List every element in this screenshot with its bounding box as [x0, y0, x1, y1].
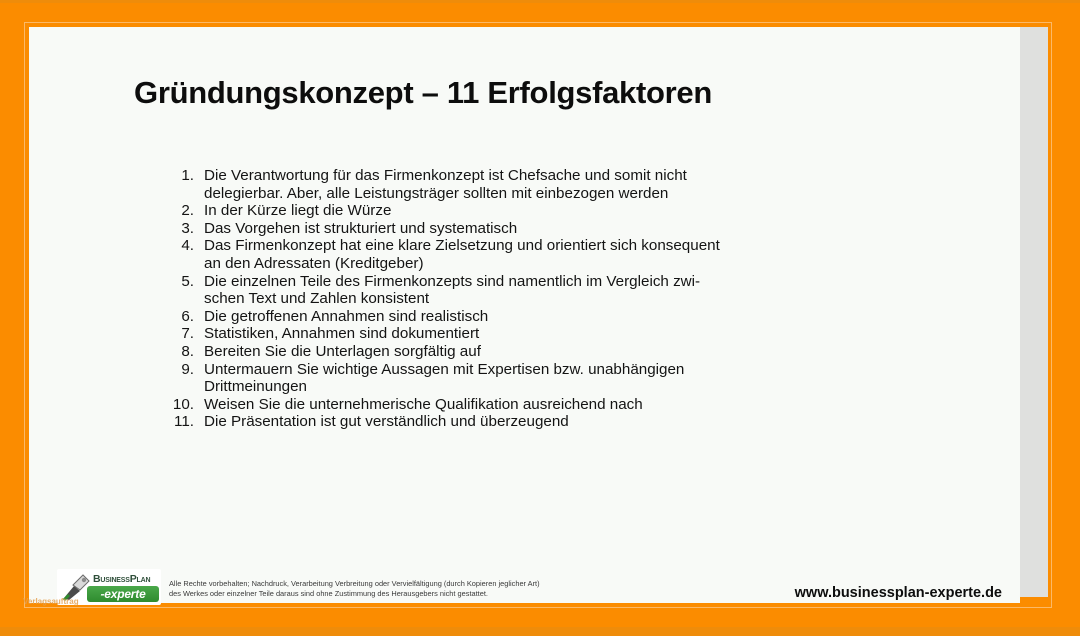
list-item-line-1: Untermauern Sie wichtige Aussagen mit Ex… — [204, 361, 920, 379]
logo-banner-text: -experte — [87, 586, 159, 602]
list-item-line-2: delegierbar. Aber, alle Leistungsträger … — [204, 185, 920, 203]
list-item-text: Die einzelnen Teile des Firmenkonzepts s… — [204, 273, 920, 308]
page-title: Gründungskonzept – 11 Erfolgsfaktoren — [134, 75, 712, 111]
list-item-line-2: an den Adressaten (Kreditgeber) — [204, 255, 920, 273]
slide-shadow-right — [1019, 27, 1048, 597]
list-item-text: Statistiken, Annahmen sind dokumentiert — [204, 325, 920, 343]
list-item-text: Die Präsentation ist gut verständlich un… — [204, 413, 920, 431]
presentation-slide: Gründungskonzept – 11 Erfolgsfaktoren 1.… — [29, 27, 1020, 603]
list-item: 7.Statistiken, Annahmen sind dokumentier… — [160, 325, 920, 343]
list-item-line-1: In der Kürze liegt die Würze — [204, 202, 920, 220]
list-item-text: Bereiten Sie die Unterlagen sorgfältig a… — [204, 343, 920, 361]
list-item-number: 8. — [160, 343, 204, 361]
list-item-line-1: Bereiten Sie die Unterlagen sorgfältig a… — [204, 343, 920, 361]
list-item-number: 1. — [160, 167, 204, 185]
list-item-text: Die getroffenen Annahmen sind realistisc… — [204, 308, 920, 326]
list-item-number: 6. — [160, 308, 204, 326]
list-item: 8.Bereiten Sie die Unterlagen sorgfältig… — [160, 343, 920, 361]
slide-canvas: Gründungskonzept – 11 Erfolgsfaktoren 1.… — [0, 0, 1080, 636]
list-item: 1.Die Verantwortung für das Firmenkonzep… — [160, 167, 920, 202]
list-item-line-1: Das Firmenkonzept hat eine klare Zielset… — [204, 237, 920, 255]
copyright-line-1: Alle Rechte vorbehalten; Nachdruck, Vera… — [169, 579, 649, 589]
list-item: 9.Untermauern Sie wichtige Aussagen mit … — [160, 361, 920, 396]
list-item-number: 4. — [160, 237, 204, 255]
list-item-text: Weisen Sie die unternehmerische Qualifik… — [204, 396, 920, 414]
list-item: 11.Die Präsentation ist gut verständlich… — [160, 413, 920, 431]
list-item-line-1: Statistiken, Annahmen sind dokumentiert — [204, 325, 920, 343]
list-item-text: Die Verantwortung für das Firmenkonzept … — [204, 167, 920, 202]
list-item-number: 10. — [160, 396, 204, 414]
list-item-line-1: Die Verantwortung für das Firmenkonzept … — [204, 167, 920, 185]
logo-banner: -experte — [87, 586, 159, 602]
list-item-line-1: Die einzelnen Teile des Firmenkonzepts s… — [204, 273, 920, 291]
list-item-line-1: Die Präsentation ist gut verständlich un… — [204, 413, 920, 431]
list-item: 6.Die getroffenen Annahmen sind realisti… — [160, 308, 920, 326]
list-item-number: 9. — [160, 361, 204, 379]
list-item: 4.Das Firmenkonzept hat eine klare Ziels… — [160, 237, 920, 272]
list-item-line-1: Die getroffenen Annahmen sind realistisc… — [204, 308, 920, 326]
watermark-text: Verlagsauftrag — [23, 597, 79, 606]
list-item-number: 2. — [160, 202, 204, 220]
list-item-line-2: schen Text und Zahlen konsistent — [204, 290, 920, 308]
logo-wordmark: BusinessPlan — [93, 573, 150, 585]
list-item-text: In der Kürze liegt die Würze — [204, 202, 920, 220]
copyright-notice: Alle Rechte vorbehalten; Nachdruck, Vera… — [169, 579, 649, 599]
list-item: 5.Die einzelnen Teile des Firmenkonzepts… — [160, 273, 920, 308]
slide-footer: BusinessPlan -experte Alle Rechte vorbeh… — [29, 545, 1020, 603]
copyright-line-2: des Werkes oder einzelner Teile daraus s… — [169, 589, 649, 599]
list-item-number: 3. — [160, 220, 204, 238]
success-factors-list: 1.Die Verantwortung für das Firmenkonzep… — [160, 167, 920, 431]
website-url[interactable]: www.businessplan-experte.de — [795, 585, 1002, 601]
list-item-line-1: Weisen Sie die unternehmerische Qualifik… — [204, 396, 920, 414]
list-item-number: 5. — [160, 273, 204, 291]
list-item: 2.In der Kürze liegt die Würze — [160, 202, 920, 220]
list-item-number: 11. — [160, 413, 204, 431]
list-item-text: Untermauern Sie wichtige Aussagen mit Ex… — [204, 361, 920, 396]
list-item-text: Das Firmenkonzept hat eine klare Zielset… — [204, 237, 920, 272]
list-item-text: Das Vorgehen ist strukturiert und system… — [204, 220, 920, 238]
list-item-number: 7. — [160, 325, 204, 343]
list-item-line-1: Das Vorgehen ist strukturiert und system… — [204, 220, 920, 238]
list-item: 10.Weisen Sie die unternehmerische Quali… — [160, 396, 920, 414]
list-item: 3.Das Vorgehen ist strukturiert und syst… — [160, 220, 920, 238]
list-item-line-2: Drittmeinungen — [204, 378, 920, 396]
